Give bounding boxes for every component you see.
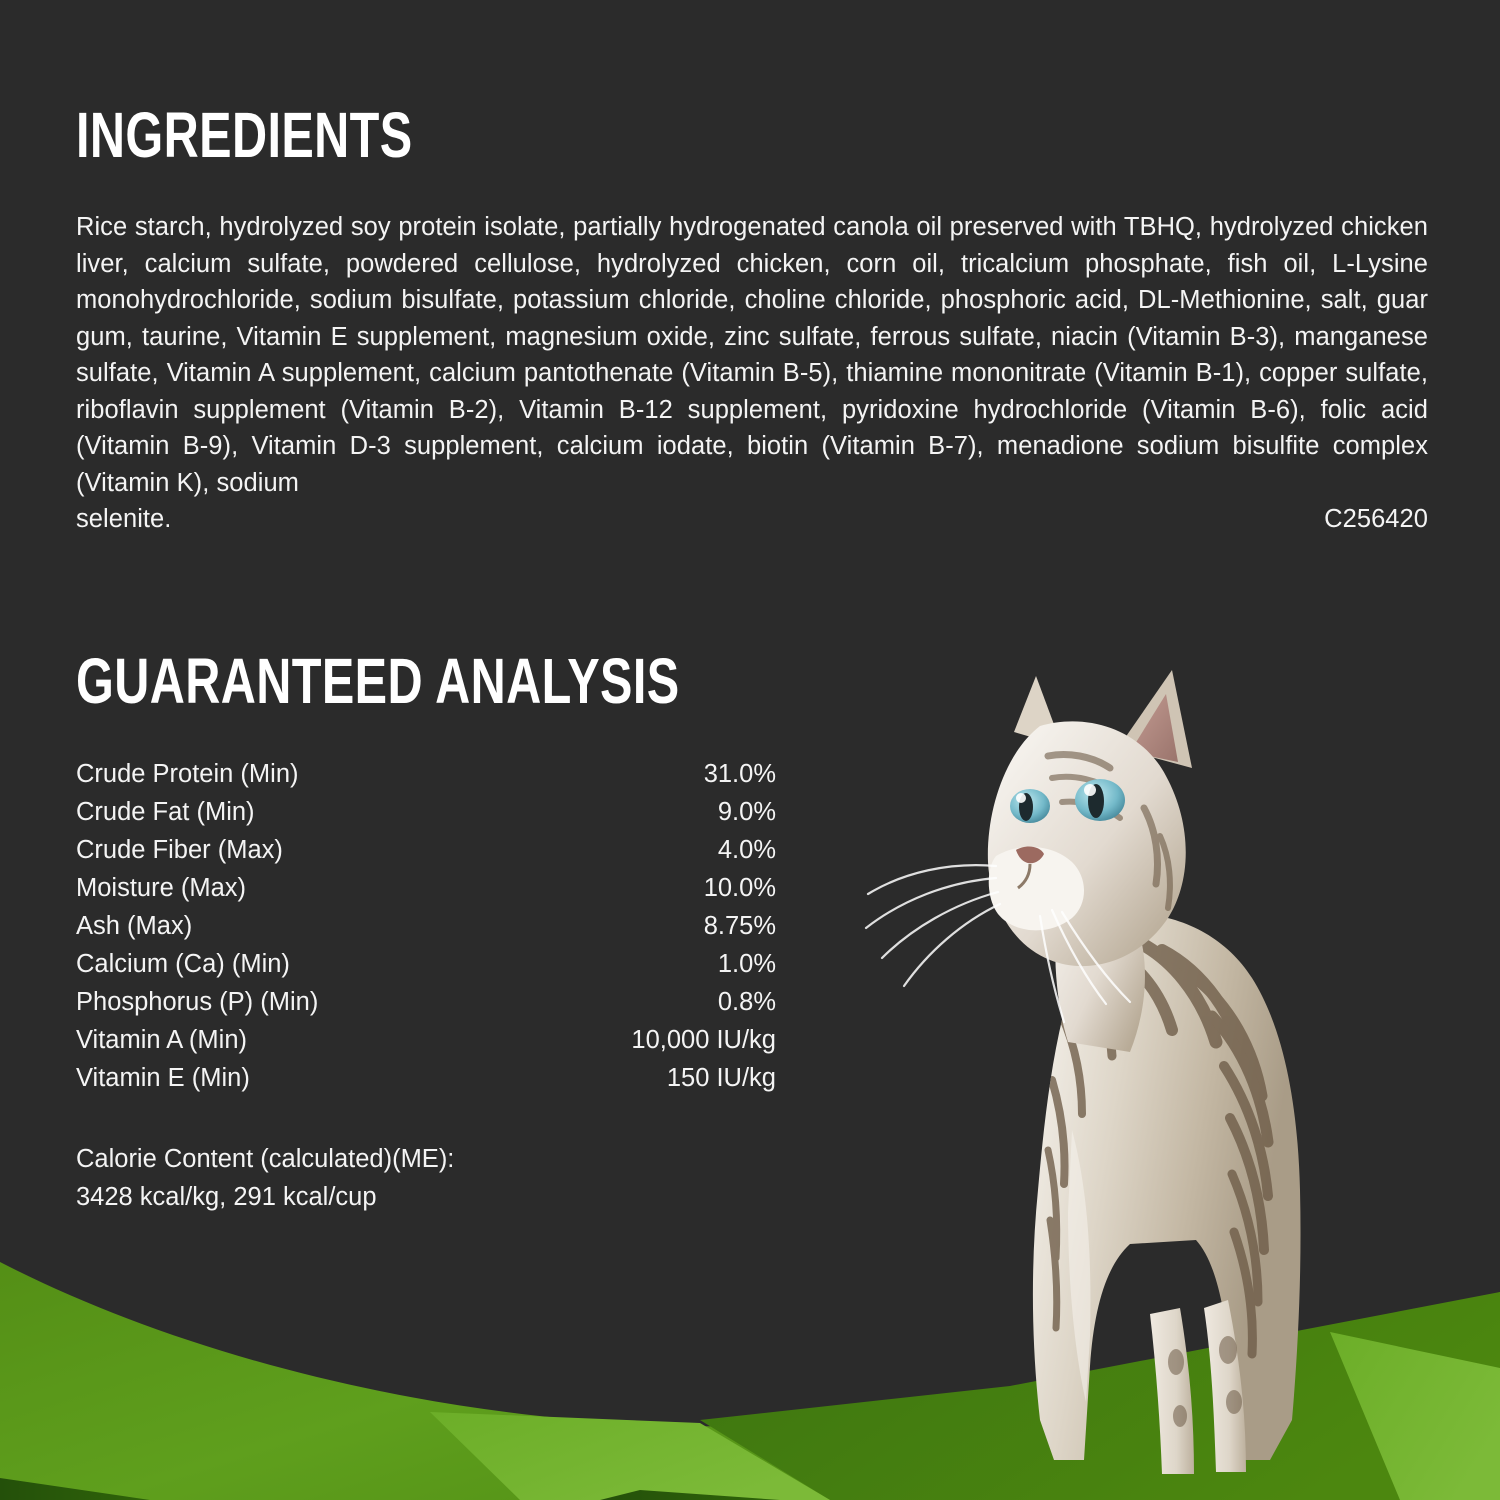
ingredients-section: INGREDIENTS Rice starch, hydrolyzed soy … xyxy=(76,62,1428,538)
analysis-label: Calcium (Ca) (Min) xyxy=(76,945,514,983)
cat-nose xyxy=(1016,847,1044,864)
cat-photo xyxy=(800,660,1500,1500)
table-row: Vitamin E (Min) 150 IU/kg xyxy=(76,1059,776,1097)
analysis-value: 10.0% xyxy=(514,869,776,907)
cat-legs xyxy=(1150,1300,1246,1474)
calorie-content-section: Calorie Content (calculated)(ME): 3428 k… xyxy=(76,1140,776,1216)
analysis-label: Ash (Max) xyxy=(76,907,514,945)
guaranteed-analysis-heading: GUARANTEED ANALYSIS xyxy=(76,651,608,712)
cat-eye-right xyxy=(1075,779,1125,821)
table-row: Vitamin A (Min) 10,000 IU/kg xyxy=(76,1021,776,1059)
ingredients-last-line: selenite. C256420 xyxy=(76,501,1428,538)
analysis-value: 1.0% xyxy=(514,945,776,983)
analysis-value: 10,000 IU/kg xyxy=(514,1021,776,1059)
analysis-label: Moisture (Max) xyxy=(76,869,514,907)
guaranteed-analysis-section: GUARANTEED ANALYSIS Crude Protein (Min) … xyxy=(76,608,776,1097)
wave-layer-darkest-center xyxy=(600,1490,780,1500)
table-row: Calcium (Ca) (Min) 1.0% xyxy=(76,945,776,983)
analysis-value: 9.0% xyxy=(514,793,776,831)
cat-head xyxy=(866,670,1192,1022)
wave-layer-bright-center xyxy=(430,1412,830,1500)
cat-neck xyxy=(1055,856,1145,1052)
analysis-label: Vitamin A (Min) xyxy=(76,1021,514,1059)
analysis-label: Crude Fat (Min) xyxy=(76,793,514,831)
cat-ear-right xyxy=(1118,670,1192,768)
ingredients-list: Rice starch, hydrolyzed soy protein isol… xyxy=(76,213,1428,497)
analysis-value: 0.8% xyxy=(514,983,776,1021)
calorie-content-line1: Calorie Content (calculated)(ME): xyxy=(76,1140,776,1178)
cat-eye-left xyxy=(1010,789,1050,823)
analysis-value: 8.75% xyxy=(514,907,776,945)
ingredients-text: Rice starch, hydrolyzed soy protein isol… xyxy=(76,209,1428,538)
analysis-value: 150 IU/kg xyxy=(514,1059,776,1097)
table-row: Moisture (Max) 10.0% xyxy=(76,869,776,907)
analysis-label: Vitamin E (Min) xyxy=(76,1059,514,1097)
table-row: Phosphorus (P) (Min) 0.8% xyxy=(76,983,776,1021)
table-row: Crude Fiber (Max) 4.0% xyxy=(76,831,776,869)
head-stripes xyxy=(1048,755,1170,909)
cat-ear-left xyxy=(1014,676,1062,746)
table-row: Crude Fat (Min) 9.0% xyxy=(76,793,776,831)
cat-body xyxy=(1033,913,1301,1460)
wave-layer-mid xyxy=(0,1262,1500,1500)
calorie-content-line2: 3428 kcal/kg, 291 kcal/cup xyxy=(76,1178,776,1216)
wave-layer-bright-right xyxy=(1330,1332,1500,1500)
ingredients-last-word: selenite. xyxy=(76,501,171,538)
guaranteed-analysis-table: Crude Protein (Min) 31.0% Crude Fat (Min… xyxy=(76,755,776,1097)
cat-whiskers xyxy=(866,865,1130,1022)
analysis-label: Phosphorus (P) (Min) xyxy=(76,983,514,1021)
tabby-stripes xyxy=(1048,938,1268,1354)
table-row: Crude Protein (Min) 31.0% xyxy=(76,755,776,793)
ingredients-heading: INGREDIENTS xyxy=(76,105,1104,166)
product-code: C256420 xyxy=(1324,501,1428,538)
green-wave-graphic xyxy=(0,1240,1500,1500)
analysis-value: 4.0% xyxy=(514,831,776,869)
wave-layer-darkest-left xyxy=(0,1478,150,1500)
analysis-label: Crude Protein (Min) xyxy=(76,755,514,793)
pet-food-label-panel: INGREDIENTS Rice starch, hydrolyzed soy … xyxy=(0,0,1500,1500)
analysis-label: Crude Fiber (Max) xyxy=(76,831,514,869)
table-row: Ash (Max) 8.75% xyxy=(76,907,776,945)
wave-layer-dark-right xyxy=(700,1292,1500,1500)
analysis-value: 31.0% xyxy=(514,755,776,793)
